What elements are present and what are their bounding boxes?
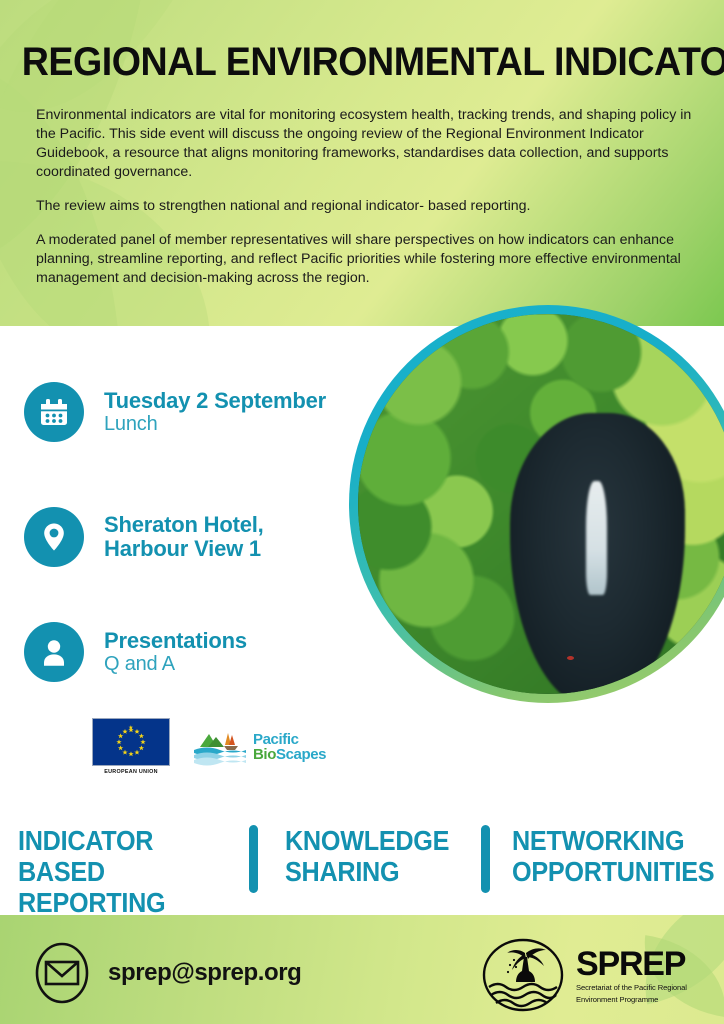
venue-line-2: Harbour View 1 bbox=[104, 537, 264, 561]
sprep-name: SPREP bbox=[576, 947, 687, 981]
partner-logos: EUROPEAN UNION Pacific bbox=[92, 718, 326, 775]
detail-row-date: Tuesday 2 September Lunch bbox=[24, 382, 326, 442]
venue-line-1: Sheraton Hotel, bbox=[104, 513, 264, 537]
sprep-logo: SPREP Secretariat of the Pacific Regiona… bbox=[480, 937, 687, 1013]
email-address[interactable]: sprep@sprep.org bbox=[108, 959, 301, 987]
sprep-tagline-line-2: Environment Programme bbox=[576, 995, 687, 1005]
photo-ring bbox=[349, 305, 724, 703]
detail-text-venue: Sheraton Hotel, Harbour View 1 bbox=[104, 513, 264, 561]
detail-text-programme: Presentations Q and A bbox=[104, 629, 247, 676]
detail-row-venue: Sheraton Hotel, Harbour View 1 bbox=[24, 507, 264, 567]
date-subtext: Lunch bbox=[104, 413, 326, 436]
photo-waterfall-layer bbox=[586, 481, 607, 595]
bioscapes-bio-text: Bio bbox=[253, 746, 276, 763]
event-poster: REGIONAL ENVIRONMENTAL INDICATORS Enviro… bbox=[0, 0, 724, 1024]
themes-banner: INDICATOR BASED REPORTING KNOWLEDGE SHAR… bbox=[0, 805, 724, 915]
theme-3-line-1: NETWORKING bbox=[512, 825, 706, 856]
detail-row-programme: Presentations Q and A bbox=[24, 622, 247, 682]
bioscapes-line-1: Pacific bbox=[253, 732, 326, 747]
email-envelope-icon bbox=[34, 942, 90, 1004]
detail-text-date: Tuesday 2 September Lunch bbox=[104, 389, 326, 436]
bioscapes-line-2: BioScapes bbox=[253, 747, 326, 762]
theme-networking-opportunities: NETWORKING OPPORTUNITIES bbox=[512, 825, 706, 887]
theme-indicator-based-reporting: INDICATOR BASED REPORTING bbox=[18, 825, 225, 918]
eu-flag-icon bbox=[92, 718, 170, 766]
location-pin-icon bbox=[24, 507, 84, 567]
details-section: Tuesday 2 September Lunch Sheraton Hotel… bbox=[0, 326, 724, 805]
theme-knowledge-sharing: KNOWLEDGE SHARING bbox=[285, 825, 465, 887]
person-icon bbox=[24, 622, 84, 682]
programme-value: Presentations bbox=[104, 629, 247, 653]
theme-2-line-2: SHARING bbox=[285, 856, 465, 887]
programme-subtext: Q and A bbox=[104, 653, 247, 676]
european-union-logo: EUROPEAN UNION bbox=[92, 718, 170, 775]
description-block: Environmental indicators are vital for m… bbox=[36, 106, 692, 288]
sprep-wordmark: SPREP Secretariat of the Pacific Regiona… bbox=[576, 945, 687, 1005]
contact-email-block[interactable]: sprep@sprep.org bbox=[34, 942, 301, 1004]
bioscapes-scapes-text: Scapes bbox=[276, 746, 326, 763]
date-value: Tuesday 2 September bbox=[104, 389, 326, 413]
theme-1-line-2: REPORTING bbox=[18, 887, 225, 918]
calendar-icon bbox=[24, 382, 84, 442]
theme-divider bbox=[481, 825, 490, 893]
theme-2-line-1: KNOWLEDGE bbox=[285, 825, 465, 856]
photo-swimmer-speck bbox=[567, 656, 574, 660]
eu-logo-caption: EUROPEAN UNION bbox=[92, 769, 170, 775]
bioscapes-wordmark: Pacific BioScapes bbox=[253, 732, 326, 762]
sprep-tagline-line-1: Secretariat of the Pacific Regional bbox=[576, 983, 687, 993]
theme-1-line-1: INDICATOR BASED bbox=[18, 825, 225, 887]
theme-divider bbox=[249, 825, 258, 893]
pacific-bioscapes-logo: Pacific BioScapes bbox=[194, 727, 326, 767]
description-paragraph-3: A moderated panel of member representati… bbox=[36, 231, 692, 288]
page-title: REGIONAL ENVIRONMENTAL INDICATORS bbox=[22, 40, 703, 85]
footer-section: sprep@sprep.org bbox=[0, 915, 724, 1024]
header-section: REGIONAL ENVIRONMENTAL INDICATORS Enviro… bbox=[0, 0, 724, 326]
description-paragraph-2: The review aims to strengthen national a… bbox=[36, 197, 692, 216]
bioscapes-mark-icon bbox=[194, 727, 246, 767]
description-paragraph-1: Environmental indicators are vital for m… bbox=[36, 106, 692, 182]
theme-3-line-2: OPPORTUNITIES bbox=[512, 856, 706, 887]
rainforest-waterfall-photo bbox=[358, 314, 724, 694]
sprep-emblem-icon bbox=[480, 937, 566, 1013]
